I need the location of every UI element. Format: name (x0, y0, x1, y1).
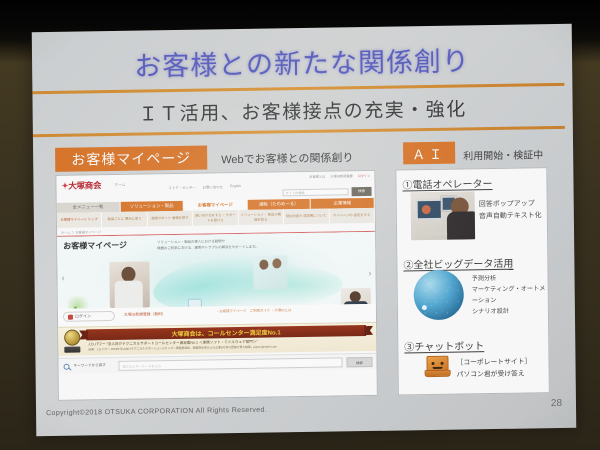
site-search-button[interactable]: 検索 (352, 187, 372, 196)
site-logo-text: 大塚商会 (68, 180, 101, 191)
call-center-operator-photo (411, 191, 476, 240)
hero-photo-woman-at-desk (109, 261, 150, 308)
divider-bottom (33, 126, 565, 137)
pasokon-kun-mascot-icon (424, 356, 450, 378)
globe-network-icon (413, 270, 464, 321)
slide-canvas: お客様との新たな関係創り ＩＴ活用、お客様接点の充実・強化 お客様マイページ W… (32, 24, 577, 436)
keyword-search-bar[interactable]: キーワードから探す 知りたいキーワードを入力 検索 (58, 353, 376, 374)
hero-carousel[interactable]: お客様マイページ ソリューション・製品の導入における疑問や 機器のご利用における… (57, 232, 376, 309)
section-banner-ai: ＡＩ (403, 142, 455, 165)
utility-link-register[interactable]: 大塚ID新規登録 (330, 173, 352, 178)
breadcrumb: ホーム ＞ お客様マイページ (61, 229, 101, 235)
page-number: 28 (551, 398, 562, 409)
ai-item-3-notes: ［コーポレートサイト］ パソコン君が受け答え (456, 356, 531, 381)
carousel-next-icon[interactable]: › (368, 268, 371, 278)
divider-top (32, 83, 564, 94)
search-icon (64, 364, 70, 370)
site-utility-links[interactable]: お客様とは 大塚ID新規登録 ログイン (309, 173, 370, 179)
ai-item-1-heading: ①電話オペレーター (402, 175, 492, 191)
subnav-item-product-features[interactable]: ソリューション・ 製品の機能を知る (238, 209, 284, 225)
section-banner-mypage: お客様マイページ (55, 146, 207, 172)
subnav-item-mypage-top[interactable]: お客様マイページ トップ (57, 212, 103, 228)
subnav-item-contract-billing[interactable]: 契約内容や 請求書について (284, 209, 330, 225)
subnav-item-inquiry[interactable]: 問い合わせをする・ サポートを受ける (193, 210, 239, 226)
section-note-ai: 利用開始・検証中 (463, 146, 543, 162)
subnav-item-mypage-settings[interactable]: マイページの 設定をする (329, 208, 375, 224)
copyright-text: Copyright©2018 OTSUKA CORPORATION All Ri… (46, 407, 267, 417)
page-subtitle: ＩＴ活用、お客様接点の充実・強化 (33, 93, 573, 128)
website-screenshot-panel: お客様とは 大塚ID新規登録 ログイン ✦大塚商会 ホーム ストア・センター お… (55, 170, 378, 401)
keyword-search-button[interactable]: 検索 (346, 357, 372, 367)
ai-initiatives-panel: ①電話オペレーター 回答ポップアップ 音声自動テキスト化 ②全社ビッグデータ活用… (395, 167, 550, 395)
medal-icon (64, 329, 82, 351)
home-link[interactable]: ホーム (114, 183, 125, 188)
utility-link-login[interactable]: ログイン (358, 173, 371, 178)
subnav-item-failure-support[interactable]: 故障サポート 情報を探す (148, 211, 194, 227)
projected-slide: お客様との新たな関係創り ＩＴ活用、お客様接点の充実・強化 お客様マイページ W… (32, 24, 577, 436)
site-secondary-links[interactable]: ストア・センター お問い合わせ English (168, 184, 241, 190)
register-link[interactable]: 大塚ID新規登録（無料） (124, 312, 166, 318)
page-title: お客様との新たな関係創り (32, 38, 572, 85)
login-button-label: ログイン (75, 313, 91, 319)
award-banner: 大塚商会は、コールセンター満足度No.1 J.D.パワー "法人向けテクニカルサ… (58, 322, 376, 356)
ai-item-1-notes: 回答ポップアップ 音声自動テキスト化 (479, 198, 542, 223)
site-logo[interactable]: ✦大塚商会 (61, 179, 101, 192)
hero-photo-two-people (253, 255, 287, 290)
utility-link-about[interactable]: お客様とは (309, 174, 325, 179)
link-store-center[interactable]: ストア・センター (168, 185, 195, 190)
ai-item-3-heading: ③チャットボット (404, 337, 484, 353)
link-english[interactable]: English (230, 184, 241, 189)
link-contact[interactable]: お問い合わせ (203, 184, 223, 189)
hero-description: ソリューション・製品の導入における疑問や 機器のご利用における、運用やトラブルの… (157, 239, 259, 252)
subnav-item-per-product[interactable]: 製品ごとに 便利に使う (102, 211, 148, 227)
hero-decoration-leaf (68, 296, 92, 309)
hero-title: お客様マイページ (63, 240, 127, 252)
login-button[interactable]: ログイン (63, 311, 115, 322)
keyword-search-input[interactable]: 知りたいキーワードを入力 (118, 357, 342, 371)
site-search-input[interactable]: サイト内検索 (283, 188, 349, 196)
keyword-search-label: キーワードから探す (74, 363, 106, 369)
section-note-mypage: Webでお客様との関係創り (221, 149, 353, 167)
carousel-prev-icon[interactable]: ‹ (61, 273, 64, 283)
ai-item-2-notes: 予測分析 マーケティング・オートメーション シナリオ設計 (472, 272, 548, 318)
guide-links[interactable]: ・お客様マイページ ご利用ガイド ・大塚IDとは (216, 308, 292, 315)
lock-icon (68, 314, 73, 319)
